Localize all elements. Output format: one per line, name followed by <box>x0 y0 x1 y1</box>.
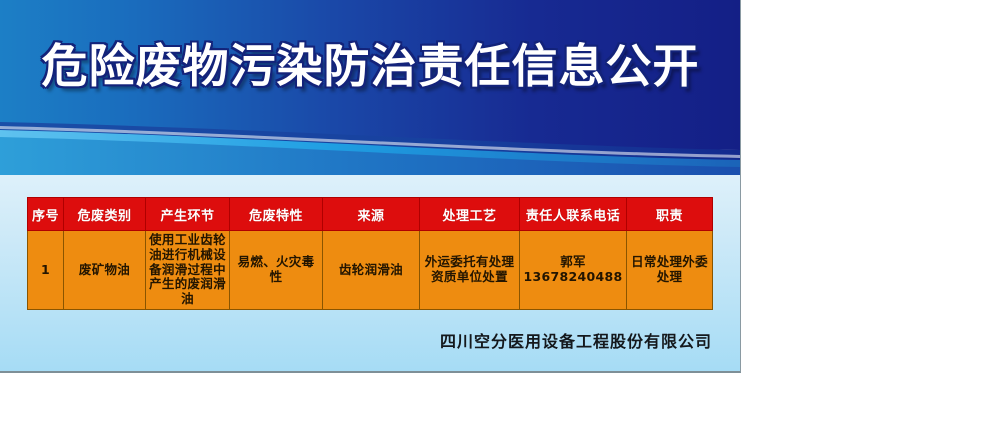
column-header-duty: 职责 <box>627 198 713 231</box>
hazardous-waste-disclosure-poster: 危险废物污染防治责任信息公开 序号 危废类别 产生环节 危废特性 来源 处理工艺… <box>0 0 741 373</box>
contact-phone: 13678240488 <box>522 270 624 285</box>
table-header-row: 序号 危废类别 产生环节 危废特性 来源 处理工艺 责任人联系电话 职责 <box>28 198 713 231</box>
column-header-treatment: 处理工艺 <box>420 198 520 231</box>
cell-duty: 日常处理外委处理 <box>627 231 713 310</box>
column-header-contact: 责任人联系电话 <box>520 198 627 231</box>
company-name: 四川空分医用设备工程股份有限公司 <box>0 328 712 352</box>
page-title: 危险废物污染防治责任信息公开 <box>0 43 741 89</box>
column-header-seq: 序号 <box>28 198 64 231</box>
cell-category: 废矿物油 <box>64 231 146 310</box>
cell-seq: 1 <box>28 231 64 310</box>
cell-characteristics: 易燃、火灾毒性 <box>230 231 323 310</box>
cell-contact: 郭军 13678240488 <box>520 231 627 310</box>
hazardous-waste-table: 序号 危废类别 产生环节 危废特性 来源 处理工艺 责任人联系电话 职责 1 废… <box>27 197 713 310</box>
cell-generation: 使用工业齿轮油进行机械设备润滑过程中产生的废润滑油 <box>146 231 230 310</box>
column-header-source: 来源 <box>323 198 420 231</box>
cell-source: 齿轮润滑油 <box>323 231 420 310</box>
cell-treatment: 外运委托有处理资质单位处置 <box>420 231 520 310</box>
column-header-characteristics: 危废特性 <box>230 198 323 231</box>
column-header-generation: 产生环节 <box>146 198 230 231</box>
table-row: 1 废矿物油 使用工业齿轮油进行机械设备润滑过程中产生的废润滑油 易燃、火灾毒性… <box>28 231 713 310</box>
column-header-category: 危废类别 <box>64 198 146 231</box>
contact-name: 郭军 <box>522 255 624 270</box>
